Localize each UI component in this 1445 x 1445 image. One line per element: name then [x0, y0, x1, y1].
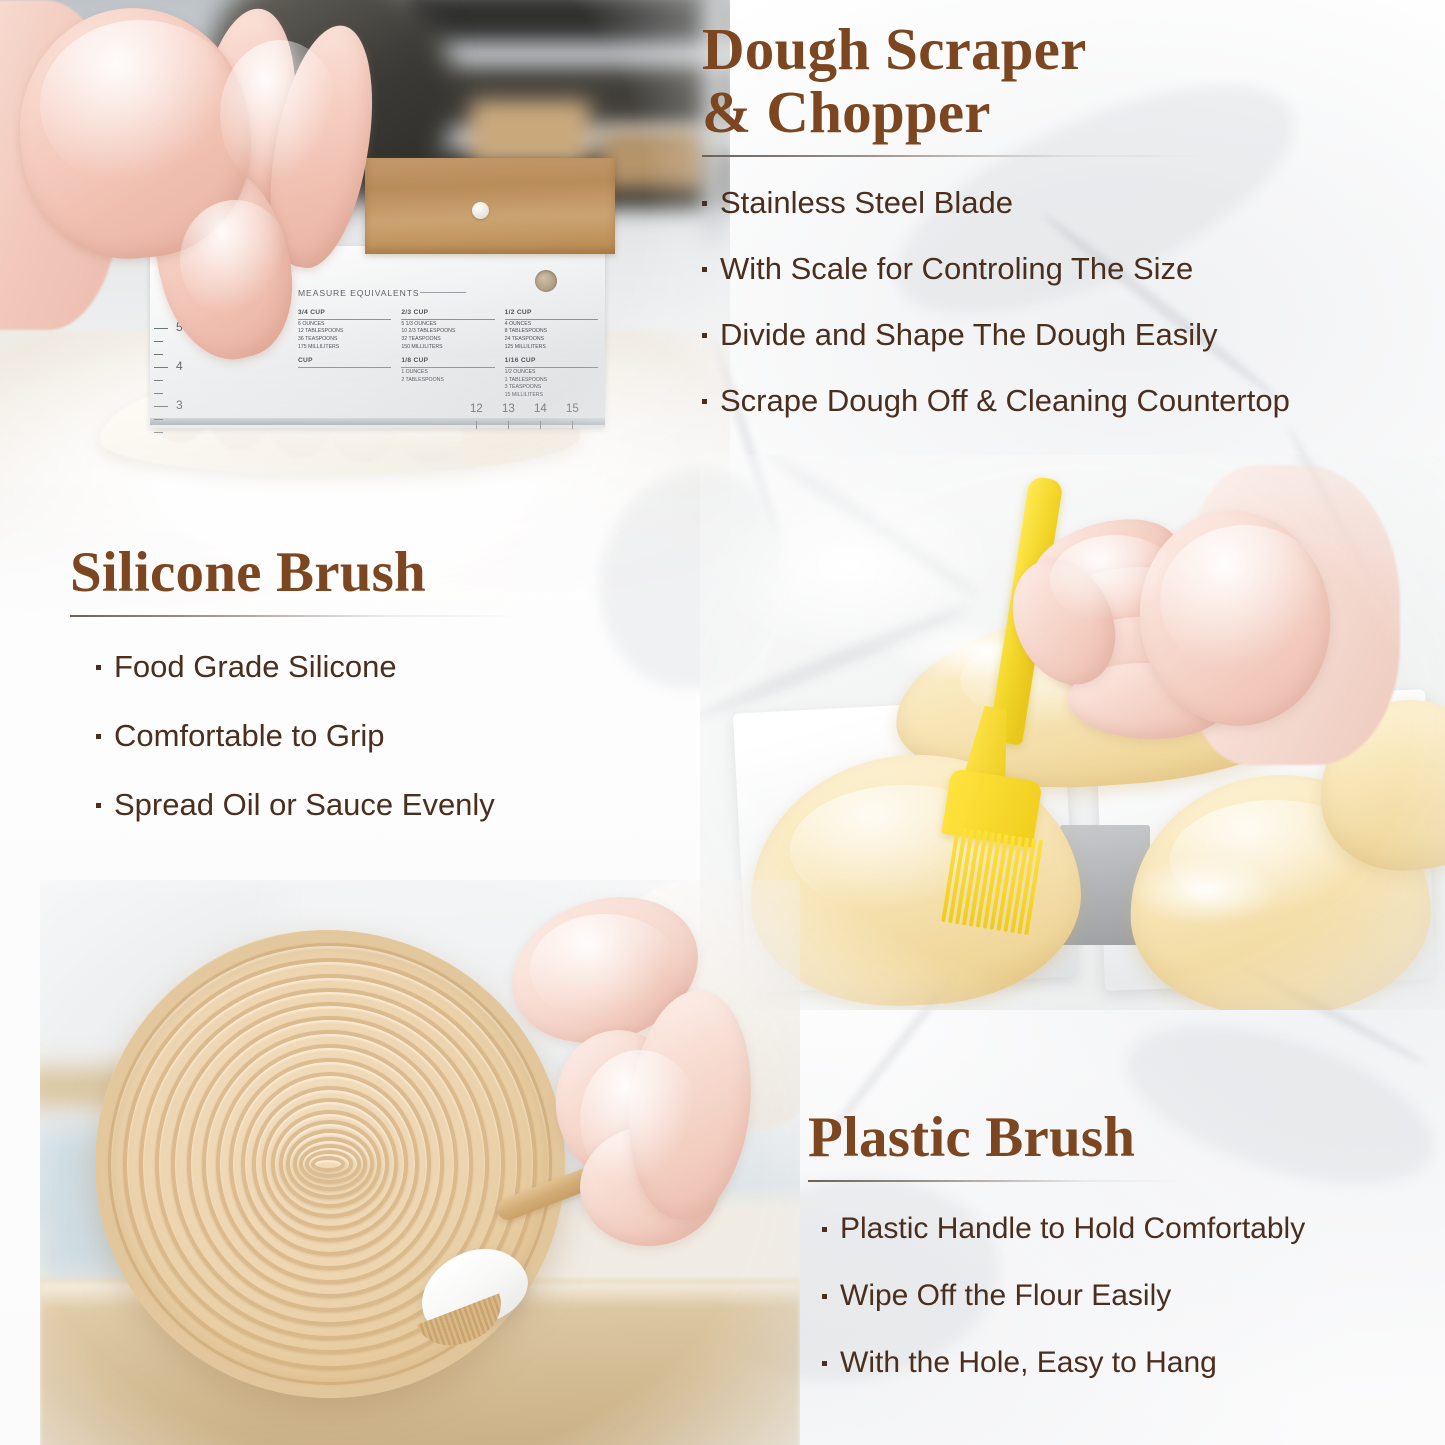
list-item-label: Comfortable to Grip: [114, 720, 385, 751]
scale-tick: [540, 421, 541, 429]
list-item: Divide and Shape The Dough Easily: [702, 319, 1442, 350]
list-item-label: Scrape Dough Off & Cleaning Countertop: [720, 385, 1290, 416]
conversion-line: 4 OUNCES: [505, 321, 532, 327]
list-item-label: Spread Oil or Sauce Evenly: [114, 789, 495, 820]
list-item: Stainless Steel Blade: [702, 187, 1442, 218]
conversion-cell: 1/16 CUP 1/2 OUNCES 1 TABLESPOONS 3 TEAS…: [505, 356, 598, 400]
bullet-icon: [96, 803, 101, 808]
scale-number: 12: [470, 403, 483, 415]
bullet-icon: [822, 1294, 827, 1299]
list-item: Comfortable to Grip: [96, 720, 690, 751]
product-feature-graphic: MEASURE EQUIVALENTS 3/4 CUP 6 OUNCES 12 …: [0, 0, 1445, 1445]
scale-number: 13: [502, 403, 515, 415]
hand-holding-basket: [470, 890, 800, 1320]
list-item-label: Wipe Off the Flour Easily: [840, 1281, 1171, 1311]
hand-highlight: [530, 914, 680, 1024]
list-item-label: Plastic Handle to Hold Comfortably: [840, 1214, 1305, 1244]
gloved-hand-holding-scraper: [0, 0, 410, 410]
bullet-icon: [702, 201, 707, 206]
list-item: Scrape Dough Off & Cleaning Countertop: [702, 385, 1442, 416]
scale-number: 15: [566, 403, 579, 415]
gloved-hand-holding-silicone-brush: [1010, 465, 1370, 795]
conversion-cell: 1/2 CUP 4 OUNCES 8 TABLESPOONS 24 TEASPO…: [505, 308, 598, 352]
list-item: With the Hole, Easy to Hang: [822, 1348, 1445, 1378]
section-plastic-brush: Plastic Brush Plastic Handle to Hold Com…: [808, 1108, 1445, 1415]
flour-dust: [1130, 855, 1280, 925]
list-item: Wipe Off the Flour Easily: [822, 1281, 1445, 1311]
list-item-label: With the Hole, Easy to Hang: [840, 1348, 1217, 1378]
bullet-icon: [822, 1227, 827, 1232]
hand-highlight: [580, 1050, 700, 1190]
photo-banneton-and-plastic-brush: [40, 880, 800, 1445]
photo-silicone-brush: [700, 455, 1445, 1010]
scale-number: 14: [534, 403, 547, 415]
handle-rivet: [472, 202, 489, 219]
bullet-icon: [822, 1361, 827, 1366]
silicone-brush-bristles: [939, 826, 1045, 937]
conversion-line: 15 MILLILITERS: [505, 392, 543, 398]
conversion-cup-label: 1/2 CUP: [505, 308, 598, 320]
bullet-icon: [96, 665, 101, 670]
conversion-line: 125 MILLILITERS: [505, 344, 546, 350]
glove-sheen: [220, 40, 340, 190]
scraper-blade-edge: [150, 418, 605, 425]
scale-tick: [508, 421, 509, 429]
scale-tick: [572, 421, 573, 429]
list-item-label: Food Grade Silicone: [114, 651, 397, 682]
conversion-line: 8 TABLESPOONS: [505, 328, 547, 334]
list-item: Food Grade Silicone: [96, 651, 690, 682]
list-item-label: Stainless Steel Blade: [720, 187, 1013, 218]
glove-sheen: [40, 20, 240, 190]
heading-divider: [808, 1180, 1183, 1182]
conversion-line: 24 TEASPOONS: [505, 336, 544, 342]
feature-list: Stainless Steel Blade With Scale for Con…: [702, 187, 1442, 416]
conversion-cup-label: 2/3 CUP: [401, 308, 494, 320]
conversion-line: 3 TEASPOONS: [505, 384, 542, 390]
conversion-cup-label: 1/16 CUP: [505, 356, 598, 368]
conversion-cell: 2/3 CUP 5 1/3 OUNCES 10 2/3 TABLESPOONS …: [401, 308, 494, 352]
bullet-icon: [96, 734, 101, 739]
feature-list: Food Grade Silicone Comfortable to Grip …: [70, 651, 690, 820]
section-heading: Dough Scraper & Chopper: [702, 18, 1442, 143]
heading-divider: [70, 615, 525, 617]
scale-tick: [154, 432, 163, 433]
glove-sheen: [180, 200, 290, 320]
conversion-line: 1 TABLESPOONS: [505, 377, 547, 383]
heading-divider: [702, 155, 1202, 157]
bakery-rack: [400, 0, 730, 42]
glove-sheen: [1050, 535, 1180, 625]
feature-list: Plastic Handle to Hold Comfortably Wipe …: [808, 1214, 1445, 1378]
conversion-line: 1/2 OUNCES: [505, 369, 536, 375]
conversion-cell: 1/8 CUP 1 OUNCES 2 TABLESPOONS: [401, 356, 494, 400]
label-rule: [420, 292, 466, 293]
list-item-label: Divide and Shape The Dough Easily: [720, 319, 1217, 350]
list-item: Spread Oil or Sauce Evenly: [96, 789, 690, 820]
bullet-icon: [702, 399, 707, 404]
list-item: Plastic Handle to Hold Comfortably: [822, 1214, 1445, 1244]
bullet-icon: [702, 267, 707, 272]
section-heading: Silicone Brush: [70, 543, 690, 603]
section-silicone-brush: Silicone Brush Food Grade Silicone Comfo…: [70, 543, 690, 858]
section-heading: Plastic Brush: [808, 1108, 1445, 1168]
scale-tick: [476, 421, 477, 429]
scale-tick: [154, 419, 163, 420]
list-item-label: With Scale for Controling The Size: [720, 253, 1193, 284]
glove-sheen: [1160, 525, 1330, 675]
bullet-icon: [702, 333, 707, 338]
list-item: With Scale for Controling The Size: [702, 253, 1442, 284]
conversion-cup-label: 1/8 CUP: [401, 356, 494, 368]
section-dough-scraper: Dough Scraper & Chopper Stainless Steel …: [702, 18, 1442, 451]
